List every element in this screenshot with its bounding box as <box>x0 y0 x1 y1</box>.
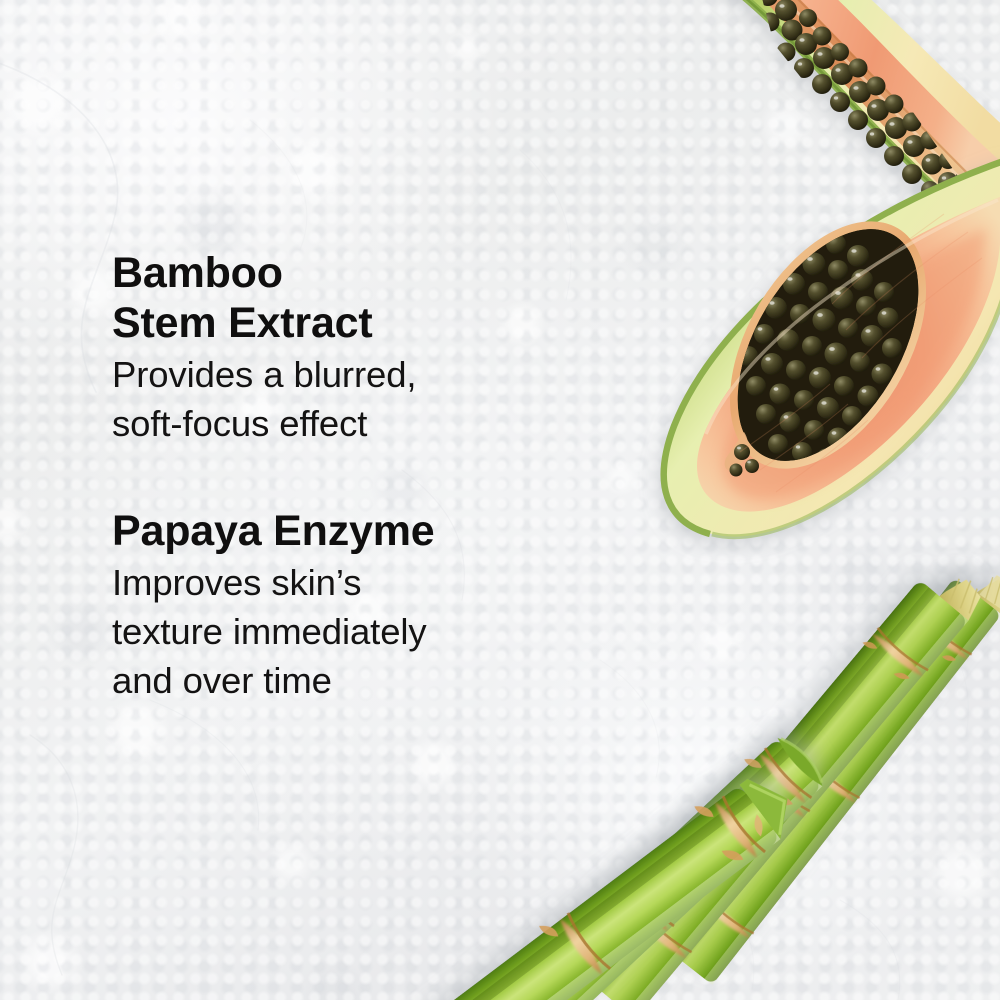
bamboo-description: Provides a blurred, soft-focus effect <box>112 350 582 448</box>
ingredient-copy: Bamboo Stem Extract Provides a blurred, … <box>112 248 582 705</box>
papaya-description: Improves skin’s texture immediately and … <box>112 558 582 705</box>
bamboo-heading: Bamboo Stem Extract <box>112 248 582 348</box>
ingredient-block-bamboo: Bamboo Stem Extract Provides a blurred, … <box>112 248 582 448</box>
papaya-heading: Papaya Enzyme <box>112 506 582 556</box>
ingredient-block-papaya: Papaya Enzyme Improves skin’s texture im… <box>112 506 582 705</box>
promo-canvas: Bamboo Stem Extract Provides a blurred, … <box>0 0 1000 1000</box>
